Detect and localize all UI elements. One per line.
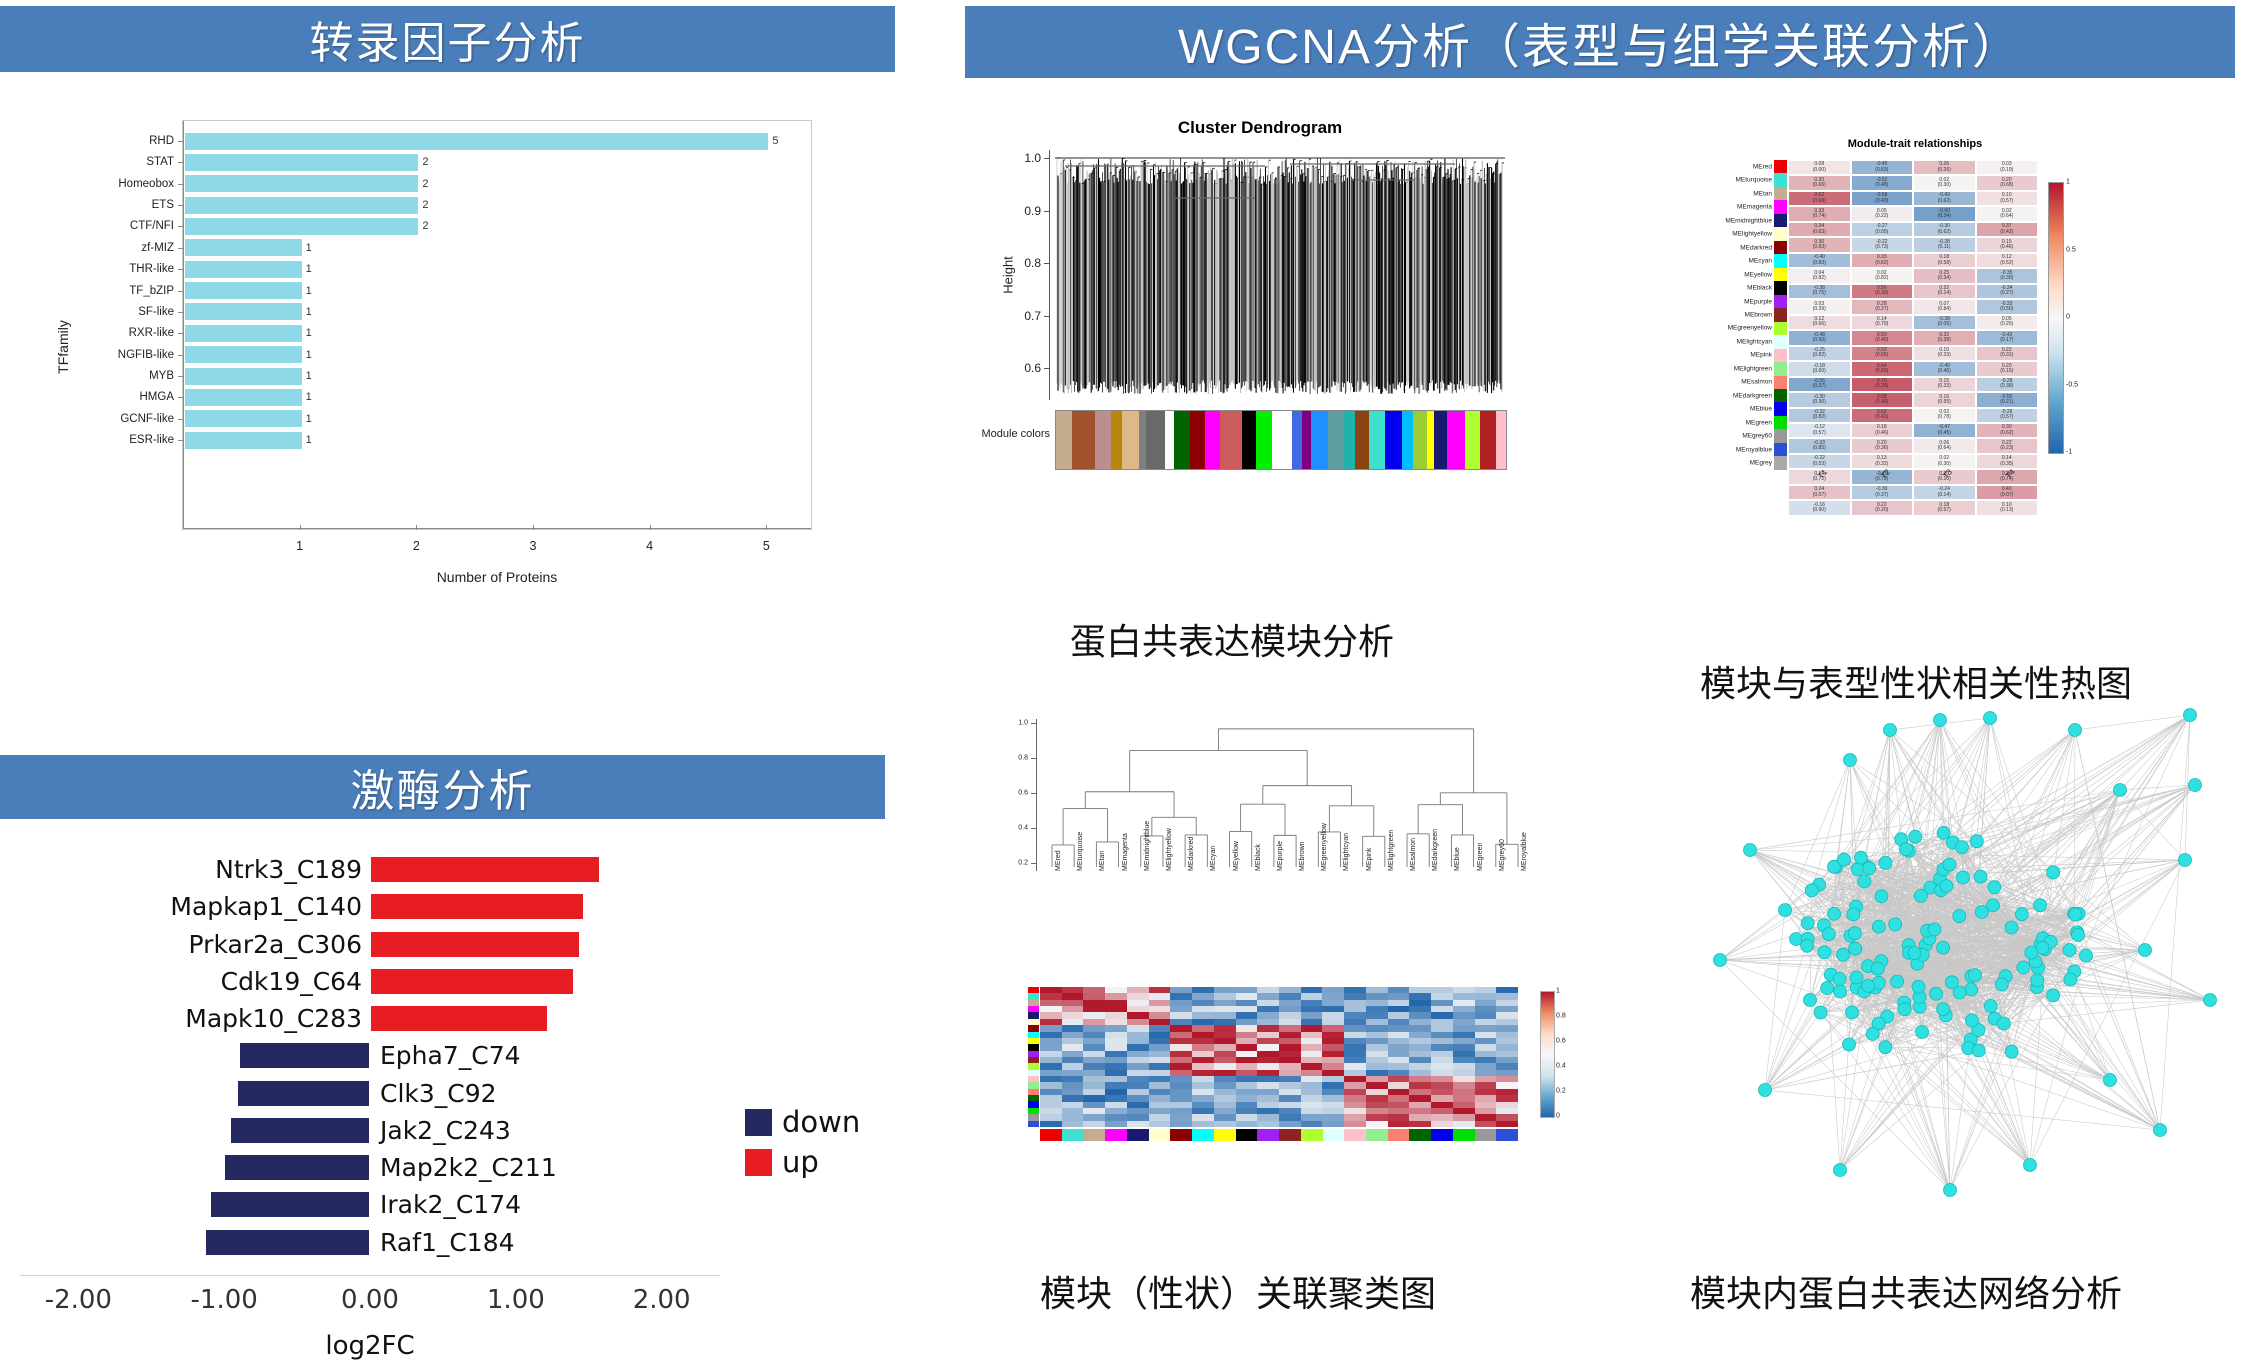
tf-chart-y-tick (178, 312, 183, 313)
module-adjacency-column-color (1192, 1129, 1214, 1141)
module-trait-cell: -0.33(0.50) (1976, 299, 2039, 314)
module-trait-cell: -0.25(0.82) (1788, 346, 1851, 361)
module-eigengene-colorbar-label: 0.8 (1556, 1013, 1566, 1020)
module-trait-cell: -0.28(0.38) (1976, 377, 2039, 392)
module-trait-row-label: MElightyellow (1732, 231, 1772, 238)
tf-chart-y-tick (178, 333, 183, 334)
module-trait-cell-pvalue: (0.27) (2000, 291, 2013, 296)
module-adjacency-cell (1062, 1121, 1084, 1127)
tf-chart-x-tick (416, 525, 417, 530)
module-trait-cell-pvalue: (0.34) (1938, 276, 1951, 281)
tf-chart-bar-row: HMGA1 (183, 387, 312, 407)
module-trait-colorbar-label: 0 (2066, 314, 2070, 321)
module-trait-colorbar-label: -1 (2066, 449, 2072, 456)
tf-chart-y-tick-label: SF-like (14, 306, 174, 318)
module-trait-row-label: MEroyalblue (1736, 446, 1772, 453)
module-trait-cell: -0.47(0.45) (1913, 423, 1976, 438)
module-trait-cell: 0.26(0.26) (1913, 160, 1976, 175)
kinase-bar-label: Map2k2_C211 (380, 1153, 557, 1182)
module-trait-cell: 0.02(0.30) (1913, 175, 1976, 190)
module-trait-row-label: MEmagenta (1737, 204, 1772, 211)
cluster-dendrogram-y-tick (1044, 368, 1050, 369)
module-trait-row-swatch (1774, 173, 1787, 186)
module-adjacency-column-color (1496, 1129, 1518, 1141)
module-adjacency-cell (1170, 1121, 1192, 1127)
module-trait-cell: -0.32(0.82) (1788, 408, 1851, 423)
module-trait-cell: 0.22(0.31) (1976, 346, 2039, 361)
module-adjacency-column-color (1214, 1129, 1236, 1141)
kinase-chart-plot-area: Ntrk3_C189Mapkap1_C140Prkar2a_C306Cdk19_… (20, 855, 720, 1265)
module-trait-cell-pvalue: (0.53) (1813, 462, 1826, 467)
module-trait-cell: 0.25(0.34) (1913, 268, 1976, 283)
kinase-bar-row: Map2k2_C211 (20, 1153, 720, 1182)
module-eigengene-leaf-label: MEcyan (1210, 846, 1217, 871)
module-eigengene-leaf-label: MEsalmon (1410, 838, 1417, 871)
module-trait-cell-pvalue: (0.38) (1938, 338, 1951, 343)
caption-dendrogram: 蛋白共表达模块分析 (1070, 613, 1394, 665)
kinase-bar-row: Raf1_C184 (20, 1228, 720, 1257)
module-trait-cell-pvalue: (0.00) (1813, 168, 1826, 173)
module-trait-cell: 0.28(0.27) (1851, 299, 1914, 314)
module-color-swatches (1774, 160, 1787, 470)
kinase-legend-swatch (745, 1149, 772, 1176)
tf-chart-x-tick (650, 525, 651, 530)
coexpression-network-graph (1690, 700, 2230, 1230)
module-trait-row-label: MEsalmon (1741, 379, 1772, 386)
module-trait-cell: 0.52(0.05) (1851, 346, 1914, 361)
module-trait-cell-pvalue: (0.46) (1875, 431, 1888, 436)
module-trait-cell: -0.42(0.17) (1976, 330, 2039, 345)
module-trait-cell: 0.10(0.33) (1913, 346, 1976, 361)
module-adjacency-cell (1105, 1121, 1127, 1127)
module-eigengene-leaf-label: MEred (1055, 850, 1062, 871)
module-trait-cell: 0.12(0.52) (1976, 253, 2039, 268)
kinase-bar (224, 1154, 370, 1181)
kinase-bar (370, 893, 584, 920)
cluster-dendrogram-y-tick (1044, 158, 1050, 159)
tf-chart-bar-value: 1 (306, 434, 312, 446)
module-trait-row-swatch (1774, 362, 1787, 375)
module-adjacency-column-color (1279, 1129, 1301, 1141)
module-trait-row-swatch (1774, 281, 1787, 294)
module-trait-cell-pvalue: (0.46) (2000, 245, 2013, 250)
section-banner-transcription-factor: 转录因子分析 (0, 6, 895, 72)
module-trait-row-label: MEmidnightblue (1725, 217, 1772, 224)
tf-chart-bar (185, 197, 418, 214)
kinase-bar-row: Jak2_C243 (20, 1116, 720, 1145)
kinase-bar (205, 1229, 370, 1256)
module-adjacency-cell (1149, 1121, 1171, 1127)
module-eigengene-y-tick (1031, 793, 1036, 794)
tf-chart-bar-value: 1 (306, 306, 312, 318)
module-trait-cell: 0.14(0.79) (1851, 315, 1914, 330)
module-trait-row-swatch (1774, 200, 1787, 213)
module-trait-cell-pvalue: (0.82) (1875, 276, 1888, 281)
module-trait-cell: 0.02(0.82) (1851, 268, 1914, 283)
module-trait-cell: 0.64(0.83) (1851, 361, 1914, 376)
module-eigengene-y-tick-label: 0.4 (1010, 825, 1028, 832)
module-trait-cell-pvalue: (0.17) (2000, 338, 2013, 343)
module-trait-cell-pvalue: (0.05) (1875, 353, 1888, 358)
tf-chart-y-tick-label: RHD (14, 135, 174, 147)
module-trait-cell: -0.33(0.85) (1788, 438, 1851, 453)
module-trait-cell-pvalue: (0.39) (1813, 307, 1826, 312)
module-trait-cell: 0.07(0.84) (1913, 299, 1976, 314)
module-eigengene-leaf-label: MEdarkred (1188, 837, 1195, 871)
module-trait-cell: 0.04(0.82) (1788, 268, 1851, 283)
tf-chart-plot-area: RHD5STAT2Homeobox2ETS2CTF/NFI2zf-MIZ1THR… (182, 120, 812, 530)
module-trait-cell-pvalue: (0.83) (1813, 245, 1826, 250)
tf-chart-x-tick-label: 3 (530, 539, 537, 553)
tf-chart-y-tick-label: THR-like (14, 263, 174, 275)
tf-chart-y-tick-label: NGFIB-like (14, 349, 174, 361)
tf-chart-x-tick (300, 525, 301, 530)
module-trait-row-label: MEpink (1750, 352, 1772, 359)
module-trait-cell: -0.55(0.37) (1788, 377, 1851, 392)
module-eigengene-y-tick-label: 0.8 (1010, 755, 1028, 762)
kinase-legend-item: up (745, 1145, 860, 1179)
module-trait-row-swatch (1774, 389, 1787, 402)
module-adjacency-column-color (1409, 1129, 1431, 1141)
module-eigengene-colorbar-label: 0 (1556, 1113, 1560, 1120)
module-trait-row-label: MElightcyan (1737, 338, 1772, 345)
module-trait-cell: 0.34(0.63) (1788, 222, 1851, 237)
module-trait-cell-pvalue: (0.62) (1938, 230, 1951, 235)
module-adjacency-cell (1496, 1121, 1518, 1127)
cluster-dendrogram-title: Cluster Dendrogram (980, 118, 1540, 138)
module-adjacency-cell (1366, 1121, 1388, 1127)
cluster-dendrogram-y-tick-label: 0.8 (1011, 256, 1041, 270)
module-eigengene-leaf-label: MEblack (1255, 844, 1262, 871)
tf-chart-bar-row: MYB1 (183, 366, 312, 386)
tf-chart-x-tick-label: 1 (296, 539, 303, 553)
module-adjacency-column-color (1149, 1129, 1171, 1141)
module-adjacency-column-color (1344, 1129, 1366, 1141)
module-adjacency-column-color (1127, 1129, 1149, 1141)
module-eigengene-y-tick-label: 1.0 (1010, 720, 1028, 727)
tf-chart-y-tick (178, 376, 183, 377)
tf-chart-y-tick-label: GCNF-like (14, 413, 174, 425)
module-trait-cell-pvalue: (0.52) (2000, 261, 2013, 266)
module-trait-cell: 0.20(0.68) (1976, 175, 2039, 190)
section-banner-wgcna: WGCNA分析（表型与组学关联分析） (965, 6, 2235, 78)
cluster-dendrogram-y-tick-label: 1.0 (1011, 151, 1041, 165)
cluster-dendrogram-tree (1055, 150, 1505, 400)
module-trait-cell-pvalue: (0.32) (1875, 462, 1888, 467)
tf-chart-y-tick-label: MYB (14, 370, 174, 382)
module-trait-cell: -0.22(0.53) (1788, 454, 1851, 469)
module-trait-cell-pvalue: (0.30) (1938, 462, 1951, 467)
module-trait-cell-pvalue: (0.74) (1813, 214, 1826, 219)
module-eigengene-leaf-label: MEbrown (1299, 841, 1306, 871)
module-eigengene-leaf-label: MEtan (1099, 851, 1106, 871)
module-trait-cell-pvalue: (0.85) (1813, 446, 1826, 451)
module-eigengene-cluster-panel: 1.00.80.60.40.2 MEredMEturquoiseMEtanMEm… (1000, 715, 1560, 1215)
module-trait-heatmap-title: Module-trait relationships (1770, 138, 2060, 150)
module-trait-row-label: MEdarkred (1740, 244, 1772, 251)
module-trait-cell-pvalue: (0.34) (1938, 214, 1951, 219)
module-trait-heatmap-panel: Module-trait relationships MEredMEturquo… (1700, 160, 2140, 490)
module-trait-cell: -0.26(0.57) (1976, 408, 2039, 423)
tf-chart-bar-row: ETS2 (183, 195, 428, 215)
tf-chart-bar (185, 346, 302, 363)
tf-chart-x-tick-label: 2 (413, 539, 420, 553)
module-trait-cell-pvalue: (0.66) (1813, 183, 1826, 188)
module-trait-cell-pvalue: (0.50) (2000, 307, 2013, 312)
module-trait-cell: -0.30(0.30) (1788, 392, 1851, 407)
tf-chart-y-tick (178, 440, 183, 441)
module-trait-cell: -0.30(0.62) (1913, 222, 1976, 237)
module-eigengene-y-tick-label: 0.6 (1010, 790, 1028, 797)
module-trait-row-label: MEgrey60 (1742, 433, 1772, 440)
kinase-bar-row: Cdk19_C64 (20, 967, 720, 996)
module-trait-cell-pvalue: (0.23) (2000, 446, 2013, 451)
module-trait-cell-pvalue: (0.33) (1938, 384, 1951, 389)
module-eigengene-leaf-label: MEmagenta (1122, 833, 1129, 871)
tf-chart-bar (185, 389, 302, 406)
kinase-bar (370, 1005, 548, 1032)
kinase-bar-row: Ntrk3_C189 (20, 855, 720, 884)
tf-chart-bar-value: 2 (422, 199, 428, 211)
module-trait-row-swatch (1774, 322, 1787, 335)
kinase-bar (370, 968, 574, 995)
tf-chart-bar-row: SF-like1 (183, 302, 312, 322)
module-adjacency-column-color (1083, 1129, 1105, 1141)
module-adjacency-cell (1279, 1121, 1301, 1127)
module-trait-cell: 0.03(0.39) (1788, 299, 1851, 314)
module-trait-cell-pvalue: (0.84) (1938, 307, 1951, 312)
tf-chart-bar-value: 1 (306, 349, 312, 361)
module-trait-cell-pvalue: (0.19) (2000, 168, 2013, 173)
module-trait-cell: 0.12(0.66) (1788, 315, 1851, 330)
module-trait-cell-pvalue: (0.60) (1813, 369, 1826, 374)
module-trait-cell-pvalue: (0.83) (1875, 369, 1888, 374)
module-trait-cell-pvalue: (0.27) (1875, 307, 1888, 312)
kinase-bar-row: Mapk10_C283 (20, 1004, 720, 1033)
module-eigengene-colorbar-label: 0.4 (1556, 1063, 1566, 1070)
tf-chart-bar (185, 154, 418, 171)
module-color-segment (1503, 411, 1506, 469)
module-trait-row-label: MEbrown (1745, 312, 1772, 319)
module-trait-cell-pvalue: (0.26) (1875, 384, 1888, 389)
module-trait-cell: 0.37(0.42) (1976, 222, 2039, 237)
module-trait-cell-pvalue: (0.48) (1875, 400, 1888, 405)
tf-chart-y-tick-label: CTF/NFI (14, 220, 174, 232)
module-trait-cell: 0.33(0.62) (1851, 253, 1914, 268)
module-adjacency-cell (1431, 1121, 1453, 1127)
tf-chart-y-tick (178, 269, 183, 270)
module-adjacency-column-color (1323, 1129, 1345, 1141)
module-trait-cell: -0.60(0.34) (1913, 206, 1976, 221)
module-trait-cell-pvalue: (0.36) (1875, 446, 1888, 451)
module-trait-cell-pvalue: (0.83) (1813, 261, 1826, 266)
module-trait-cell: -0.50(0.21) (1976, 392, 2039, 407)
module-eigengene-y-tick (1031, 758, 1036, 759)
module-trait-cell: 0.22(0.14) (1913, 284, 1976, 299)
tf-chart-bar-row: GCNF-like1 (183, 409, 312, 429)
kinase-bar-label: Jak2_C243 (380, 1116, 511, 1145)
module-eigengene-leaf-label: MEpink (1366, 848, 1373, 871)
module-eigengene-leaf-label: MEblue (1454, 847, 1461, 871)
module-trait-cell-pvalue: (0.05) (1938, 322, 1951, 327)
module-eigengene-leaf-label: MElightyellow (1166, 828, 1173, 871)
module-trait-cell: 0.68(0.48) (1851, 392, 1914, 407)
tf-chart-y-tick-label: HMGA (14, 391, 174, 403)
tf-chart-y-tick-label: Homeobox (14, 178, 174, 190)
module-adjacency-cell (1301, 1121, 1323, 1127)
module-eigengene-leaf-label: MEroyalblue (1521, 832, 1528, 871)
module-adjacency-column-color (1062, 1129, 1084, 1141)
module-adjacency-cell (1322, 1121, 1344, 1127)
module-trait-cell: -0.27(0.05) (1851, 222, 1914, 237)
cluster-dendrogram-panel: Cluster Dendrogram Height 1.00.90.80.70.… (980, 110, 1540, 510)
module-trait-cell: -0.45(0.83) (1851, 160, 1914, 175)
module-adjacency-cell (1236, 1121, 1258, 1127)
module-adjacency-cell (1388, 1121, 1410, 1127)
module-adjacency-row-color (1028, 1121, 1039, 1127)
module-trait-cell-pvalue: (0.22) (1875, 214, 1888, 219)
module-adjacency-column-color (1236, 1129, 1258, 1141)
tf-chart-bar-value: 1 (306, 263, 312, 275)
cluster-dendrogram-y-tick (1044, 211, 1050, 212)
kinase-bar-label: Prkar2a_C306 (189, 930, 362, 959)
kinase-bar (237, 1080, 370, 1107)
module-adjacency-cell (1409, 1121, 1431, 1127)
module-trait-row-swatch (1774, 214, 1787, 227)
module-trait-cell-pvalue: (0.33) (1938, 353, 1951, 358)
module-trait-row-swatch (1774, 268, 1787, 281)
tf-chart-bar-value: 2 (422, 220, 428, 232)
module-adjacency-cell (1083, 1121, 1105, 1127)
module-trait-cell-pvalue: (0.46) (1875, 338, 1888, 343)
module-trait-cell-pvalue: (0.64) (1938, 446, 1951, 451)
kinase-bar-label: Cdk19_C64 (221, 967, 362, 996)
module-trait-cell: -0.34(0.27) (1976, 284, 2039, 299)
tf-chart-bar-row: STAT2 (183, 152, 428, 172)
module-adjacency-cell (1257, 1121, 1279, 1127)
module-trait-cell-pvalue: (0.21) (2000, 400, 2013, 405)
module-trait-cell: 0.18(0.58) (1913, 253, 1976, 268)
module-trait-cell-pvalue: (0.50) (1813, 338, 1826, 343)
module-trait-cell-pvalue: (0.83) (1875, 168, 1888, 173)
tf-chart-x-tick-label: 4 (646, 539, 653, 553)
module-trait-row-label: MEblue (1750, 406, 1772, 413)
module-trait-cell-pvalue: (0.14) (1938, 291, 1951, 296)
module-trait-row-swatch (1774, 456, 1787, 469)
module-trait-row-label: MEtan (1753, 190, 1772, 197)
tf-chart-y-tick-label: zf-MIZ (14, 242, 174, 254)
module-trait-row-swatch (1774, 308, 1787, 321)
kinase-x-tick-label: -2.00 (45, 1285, 112, 1315)
module-trait-row-swatch (1774, 187, 1787, 200)
module-trait-cell: -0.40(0.83) (1788, 253, 1851, 268)
module-trait-row-swatch (1774, 443, 1787, 456)
module-trait-cell-pvalue: (0.38) (2000, 384, 2013, 389)
module-trait-row-label: MEred (1753, 163, 1772, 170)
module-trait-cell: 0.16(0.55) (1913, 392, 1976, 407)
tf-chart-x-tick (766, 525, 767, 530)
module-trait-colorbar-label: -0.5 (2066, 381, 2078, 388)
tf-chart-x-axis-title: Number of Proteins (183, 569, 811, 585)
module-adjacency-column-color (1105, 1129, 1127, 1141)
module-trait-cell-pvalue: (0.31) (2000, 353, 2013, 358)
module-trait-row-label: MEyellow (1744, 271, 1772, 278)
tf-chart-y-tick (178, 184, 183, 185)
module-trait-cell: -0.18(0.60) (1788, 361, 1851, 376)
module-trait-cell-pvalue: (0.37) (1813, 384, 1826, 389)
module-adjacency-column-color (1301, 1129, 1323, 1141)
cluster-dendrogram-y-tick (1044, 316, 1050, 317)
tf-chart-bar-row: NGFIB-like1 (183, 345, 312, 365)
module-trait-row-swatch (1774, 335, 1787, 348)
module-trait-cell: 0.05(0.22) (1851, 206, 1914, 221)
module-trait-cell: 0.14(0.35) (1976, 454, 2039, 469)
module-trait-row-swatch (1774, 160, 1787, 173)
tf-chart-y-tick-label: RXR-like (14, 327, 174, 339)
tf-chart-bar-value: 2 (422, 178, 428, 190)
module-trait-cell: 0.56(0.30) (1851, 284, 1914, 299)
module-trait-cell-pvalue: (0.82) (1813, 276, 1826, 281)
cluster-dendrogram-y-tick (1044, 263, 1050, 264)
module-adjacency-column-color (1475, 1129, 1497, 1141)
module-eigengene-leaf-label: MEgreen (1477, 843, 1484, 871)
module-trait-cell-pvalue: (0.30) (1813, 400, 1826, 405)
tf-chart-bar-value: 1 (306, 370, 312, 382)
module-eigengene-leaf-label: MElightcyan (1343, 833, 1350, 871)
kinase-bar-label: Mapkap1_C140 (170, 892, 362, 921)
module-eigengene-y-axis (1036, 719, 1037, 871)
caption-network: 模块内蛋白共表达网络分析 (1690, 1265, 2122, 1317)
module-trait-cell-pvalue: (0.15) (2000, 369, 2013, 374)
module-colors-label: Module colors (970, 428, 1050, 440)
tf-chart-bar-row: CTF/NFI2 (183, 216, 428, 236)
tf-chart-bar (185, 282, 302, 299)
module-trait-colorbar (2048, 182, 2064, 454)
tf-chart-bar (185, 261, 302, 278)
module-eigengene-leaf-label: MElightgreen (1388, 830, 1395, 871)
module-eigengene-leaf-label: MEpurple (1277, 841, 1284, 871)
kinase-legend-label: up (782, 1145, 819, 1179)
kinase-bar (239, 1042, 370, 1069)
module-trait-cell-pvalue: (0.25) (2000, 322, 2013, 327)
module-eigengene-colorbar-label: 1 (1556, 988, 1560, 995)
module-eigengene-row-colors (1028, 987, 1039, 1127)
module-trait-cell: 0.06(0.64) (1913, 438, 1976, 453)
module-adjacency-cell (1040, 1121, 1062, 1127)
kinase-bar-row: Irak2_C174 (20, 1190, 720, 1219)
module-trait-cell-pvalue: (0.41) (1875, 415, 1888, 420)
module-trait-cell-pvalue: (0.57) (2000, 199, 2013, 204)
module-trait-cell-pvalue: (0.48) (1875, 183, 1888, 188)
module-trait-cell-pvalue: (0.30) (2000, 276, 2013, 281)
module-adjacency-cell (1344, 1121, 1366, 1127)
module-trait-cell-pvalue: (0.57) (2000, 415, 2013, 420)
module-trait-cell-pvalue: (0.42) (2000, 230, 2013, 235)
kinase-bar-label: Raf1_C184 (380, 1228, 515, 1257)
section-banner-kinase: 激酶分析 (0, 755, 885, 819)
tf-chart-bar-value: 2 (422, 156, 428, 168)
module-trait-cell: 0.30(0.62) (1976, 423, 2039, 438)
tf-chart-y-tick (178, 141, 183, 142)
module-trait-cell: 0.13(0.32) (1851, 454, 1914, 469)
module-adjacency-column-color (1453, 1129, 1475, 1141)
module-trait-row-swatch (1774, 376, 1787, 389)
kinase-bar-label: Mapk10_C283 (185, 1004, 362, 1033)
kinase-x-tick-label: -1.00 (191, 1285, 258, 1315)
module-trait-column-labels: T1T2T3T4 (1788, 472, 2038, 512)
module-trait-cell-pvalue: (0.82) (1813, 353, 1826, 358)
tf-chart-bar (185, 218, 418, 235)
